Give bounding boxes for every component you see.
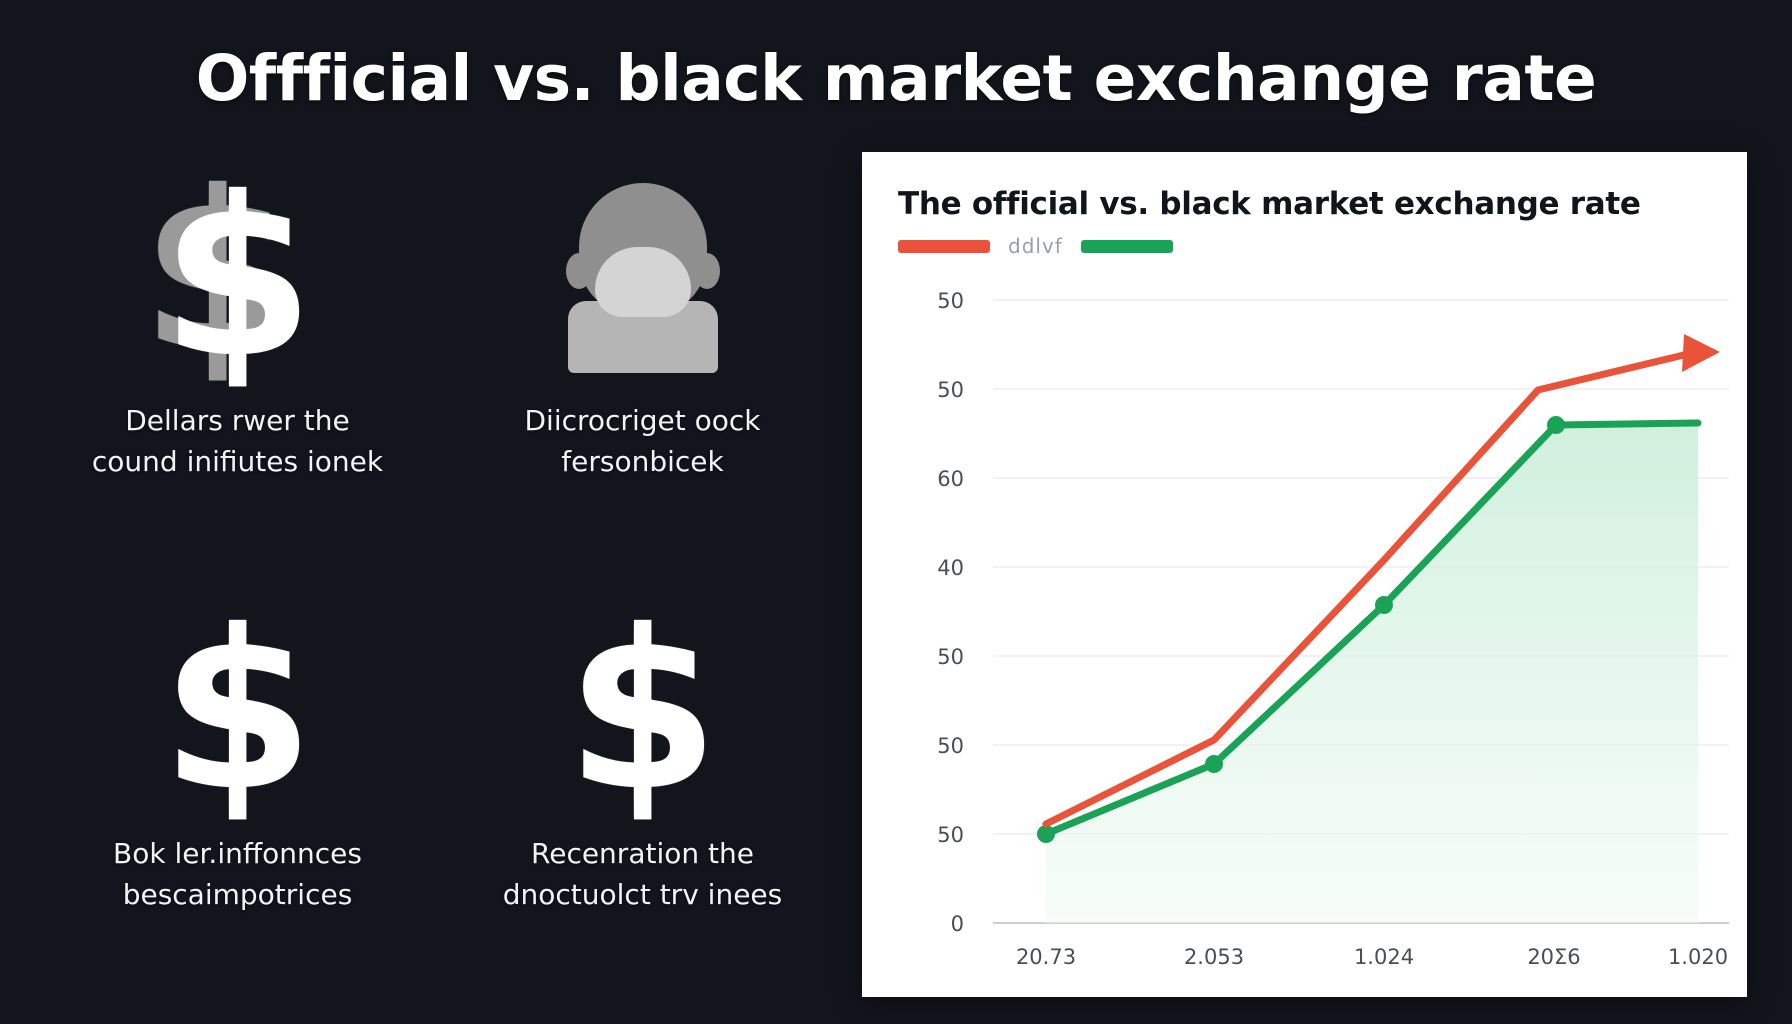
x-tick-label: 1.024 [1354,945,1414,969]
chart-title: The official vs. black market exchange r… [898,186,1641,222]
chart-plot-area: 50 50 60 40 50 50 50 0 [898,272,1729,979]
dollar-sign-icon: $ [161,601,314,821]
chart-area-fill [1046,423,1698,923]
chart-arrow-head-icon [1682,334,1720,372]
y-tick-label: 50 [937,378,964,402]
feature-caption-line1: Bok ler.inffonnces [113,833,362,874]
feature-item-4: $ Recenration the dnoctuolct trv inees [445,583,840,1010]
chart-x-axis: 20.73 2.053 1.024 20Σ6 1.020 [1016,945,1728,969]
y-tick-label: 50 [937,289,964,313]
feature-caption-2: Diicrocriget oock fersonbicek [525,400,761,483]
feature-caption-line2: fersonbicek [525,441,761,482]
infographic-page: Offficial vs. black market exchange rate… [0,0,1792,1024]
feature-caption-4: Recenration the dnoctuolct trv inees [503,833,782,916]
x-tick-label: 1.020 [1668,945,1728,969]
y-tick-label: 40 [937,556,964,580]
x-tick-label: 2.053 [1184,945,1244,969]
chart-legend: ddlvf [898,234,1173,258]
chart-card: The official vs. black market exchange r… [862,152,1747,997]
feature-caption-1: Dellars rwer the cound inifiutes ionek [92,400,383,483]
y-tick-label: 60 [937,467,964,491]
x-tick-label: 20.73 [1016,945,1076,969]
dollar-sign-icon: $ [161,168,314,388]
feature-caption-line2: dnoctuolct trv inees [503,874,782,915]
feature-caption-line1: Dellars rwer the [92,400,383,441]
x-tick-label: 20Σ6 [1527,945,1580,969]
feature-item-3: $ Bok ler.inffonnces bescaimpotrices [40,583,435,1010]
feature-caption-line2: bescaimpotrices [113,874,362,915]
y-tick-label: 0 [951,912,964,936]
feature-grid: $ Dellars rwer the cound inifiutes ionek… [40,150,840,1010]
y-tick-label: 50 [937,823,964,847]
feature-caption-line1: Diicrocriget oock [525,400,761,441]
person-silhouette-icon [558,168,728,388]
page-title: Offficial vs. black market exchange rate [0,42,1792,115]
feature-caption-line2: cound inifiutes ionek [92,441,383,482]
y-tick-label: 50 [937,734,964,758]
feature-item-2: Diicrocriget oock fersonbicek [445,150,840,577]
legend-swatch-official [898,240,990,253]
chart-svg: 50 50 60 40 50 50 50 0 [898,272,1729,979]
feature-caption-line1: Recenration the [503,833,782,874]
feature-item-1: $ Dellars rwer the cound inifiutes ionek [40,150,435,577]
legend-label-text: ddlvf [1008,234,1063,258]
chart-y-axis: 50 50 60 40 50 50 50 0 [937,289,964,936]
feature-caption-3: Bok ler.inffonnces bescaimpotrices [113,833,362,916]
y-tick-label: 50 [937,645,964,669]
dollar-sign-icon: $ [566,601,719,821]
legend-swatch-black-market [1081,240,1173,253]
